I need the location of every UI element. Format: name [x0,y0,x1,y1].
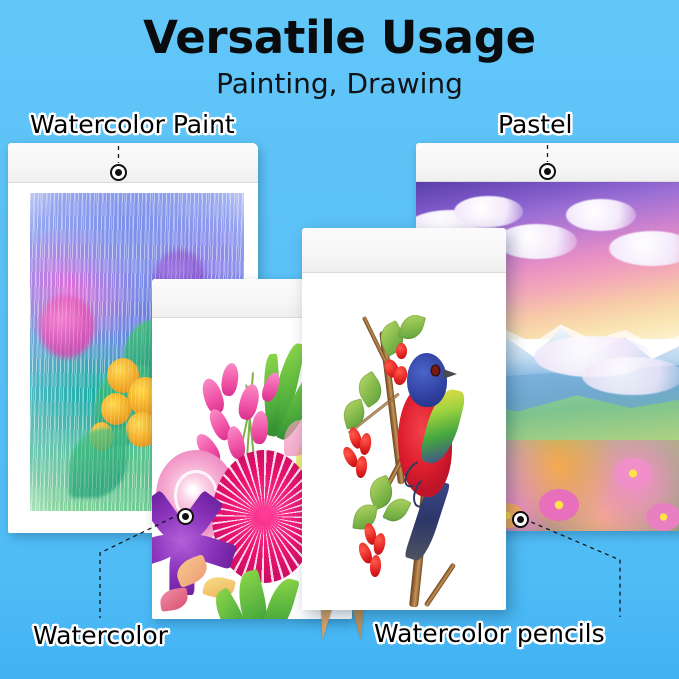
pad-watercolor-pencils [302,228,506,610]
page-title: Versatile Usage [0,14,679,61]
pad-binding-strip [302,228,506,273]
callout-label-pastel: Pastel [498,112,572,137]
callout-label-watercolor-pencils: Watercolor pencils [374,621,605,646]
target-dot-marker-watercolor[interactable] [177,508,194,525]
product-feature-image: Versatile Usage Painting, Drawing Waterc… [0,0,679,679]
pad-binding-strip [8,143,258,183]
target-dot-marker-watercolor-pencils[interactable] [512,511,529,528]
callout-label-watercolor-paint: Watercolor Paint [30,112,235,137]
page-subtitle: Painting, Drawing [0,68,679,100]
target-dot-marker-watercolor-paint[interactable] [110,164,127,181]
target-dot-marker-pastel[interactable] [539,163,556,180]
pad-sheet [302,273,506,610]
callout-label-watercolor: Watercolor [33,623,168,648]
artwork-painted-bunting-bird-on-berry-branch [314,279,496,600]
